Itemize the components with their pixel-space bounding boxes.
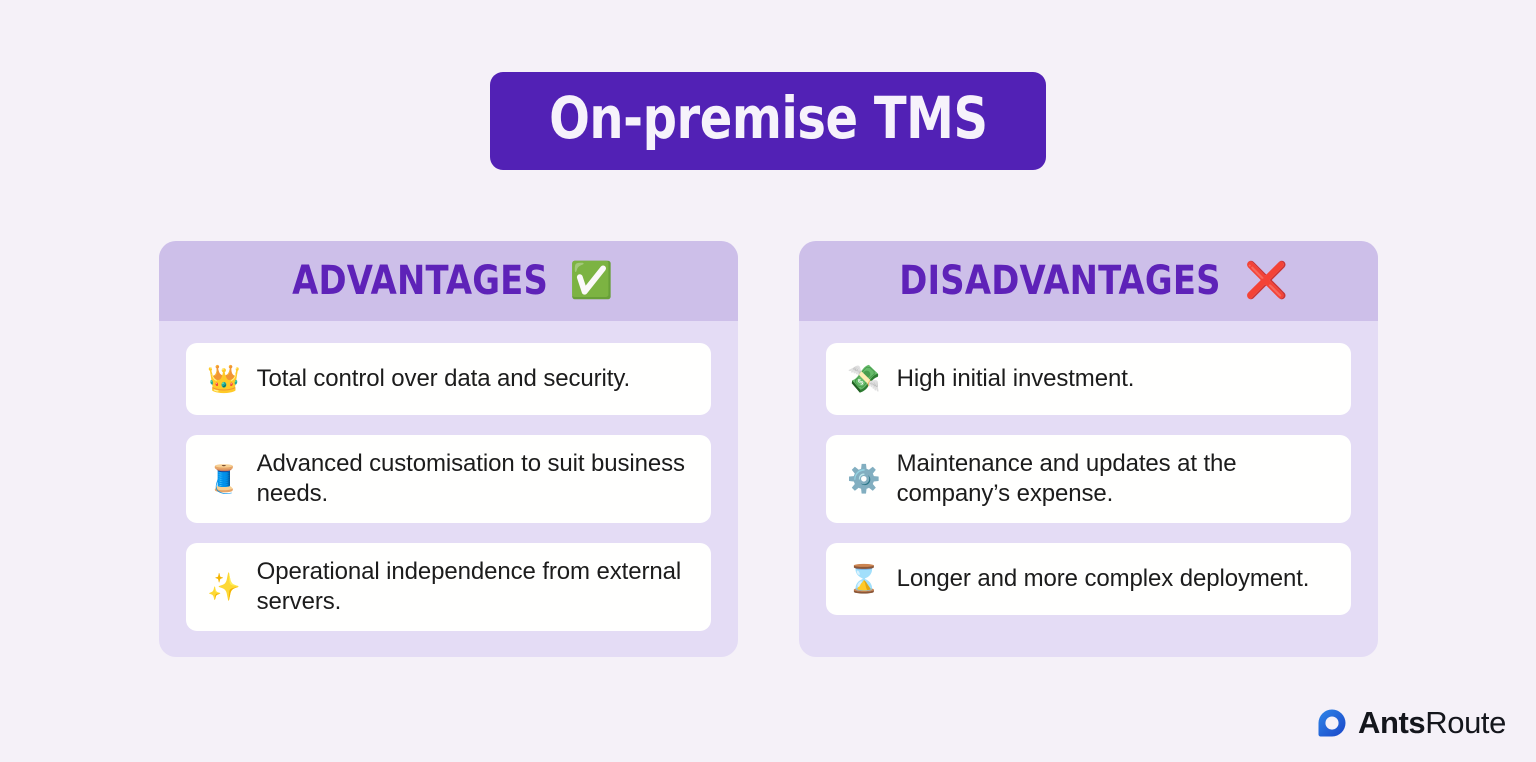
- title-banner: On-premise TMS: [490, 72, 1047, 170]
- sparkles-icon: ✨: [207, 571, 241, 603]
- comparison-columns: ADVANTAGES ✅ 👑 Total control over data a…: [159, 241, 1378, 657]
- list-item: ✨ Operational independence from external…: [186, 543, 711, 631]
- hourglass-icon: ⌛: [847, 563, 881, 595]
- disadvantages-panel: DISADVANTAGES ❌ 💸 High initial investmen…: [799, 241, 1378, 657]
- advantages-panel: ADVANTAGES ✅ 👑 Total control over data a…: [159, 241, 738, 657]
- title-banner-container: On-premise TMS: [0, 72, 1536, 170]
- logo-name-regular: Route: [1425, 705, 1506, 740]
- disadvantages-panel-header: DISADVANTAGES ❌: [799, 241, 1378, 321]
- money-with-wings-icon: 💸: [847, 363, 881, 395]
- list-item: 🧵 Advanced customisation to suit busines…: [186, 435, 711, 523]
- advantages-list: 👑 Total control over data and security. …: [159, 321, 738, 631]
- list-item: 💸 High initial investment.: [826, 343, 1351, 415]
- list-item-label: High initial investment.: [897, 364, 1135, 394]
- logo-name-bold: Ants: [1358, 705, 1425, 740]
- antsroute-logo: AntsRoute: [1317, 706, 1506, 740]
- thread-spool-icon: 🧵: [207, 463, 241, 495]
- advantages-heading: ADVANTAGES: [292, 259, 548, 303]
- disadvantages-list: 💸 High initial investment. ⚙️ Maintenanc…: [799, 321, 1378, 615]
- disadvantages-heading: DISADVANTAGES: [899, 259, 1220, 303]
- list-item-label: Advanced customisation to suit business …: [257, 449, 689, 509]
- crown-icon: 👑: [207, 363, 241, 395]
- advantages-panel-header: ADVANTAGES ✅: [159, 241, 738, 321]
- check-mark-button-icon: ✅: [570, 261, 614, 301]
- list-item: 👑 Total control over data and security.: [186, 343, 711, 415]
- list-item: ⚙️ Maintenance and updates at the compan…: [826, 435, 1351, 523]
- list-item-label: Total control over data and security.: [257, 364, 630, 394]
- page-title: On-premise TMS: [549, 86, 988, 150]
- antsroute-logo-mark-icon: [1317, 708, 1347, 738]
- gear-icon: ⚙️: [847, 463, 881, 495]
- list-item-label: Longer and more complex deployment.: [897, 564, 1310, 594]
- list-item: ⌛ Longer and more complex deployment.: [826, 543, 1351, 615]
- antsroute-logo-text: AntsRoute: [1358, 706, 1506, 740]
- list-item-label: Maintenance and updates at the company’s…: [897, 449, 1329, 509]
- list-item-label: Operational independence from external s…: [257, 557, 689, 617]
- cross-mark-icon: ❌: [1245, 261, 1289, 301]
